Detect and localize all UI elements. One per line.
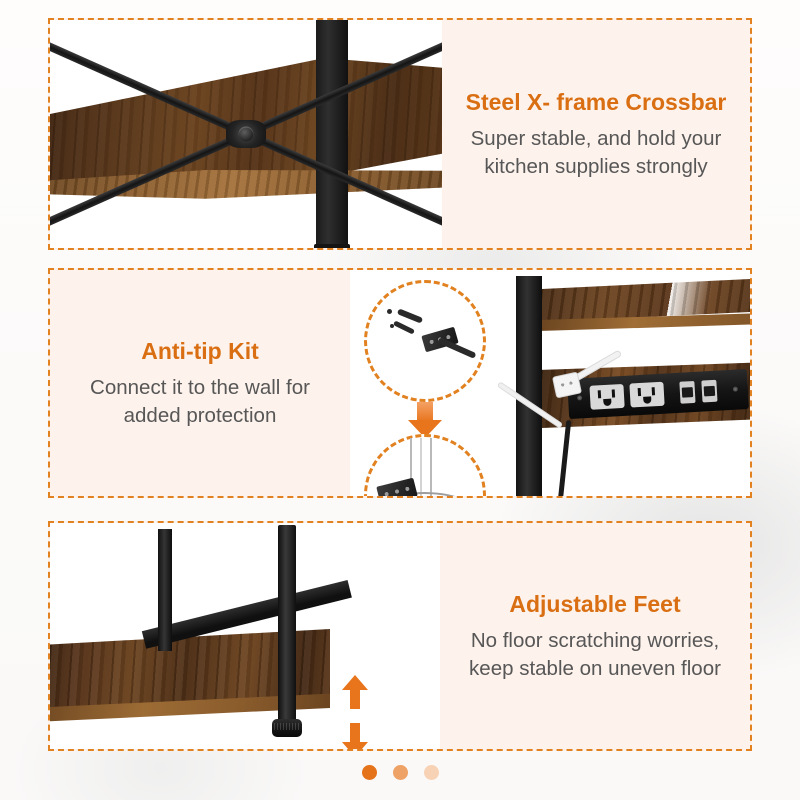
ac-outlet-icon bbox=[629, 382, 664, 408]
pagination-dots[interactable] bbox=[0, 765, 800, 780]
feature-description: Super stable, and hold your kitchen supp… bbox=[456, 125, 736, 180]
anti-tip-strap-overlay bbox=[498, 366, 610, 452]
pagination-dot-3[interactable] bbox=[424, 765, 439, 780]
feature-gallery: Steel X- frame Crossbar Super stable, an… bbox=[0, 0, 800, 800]
feature-description: Connect it to the wall for added protect… bbox=[64, 374, 336, 429]
arrow-stem bbox=[350, 689, 360, 709]
arrow-stem bbox=[350, 723, 360, 743]
outlet-ground-slot bbox=[643, 396, 651, 403]
strap-bracket bbox=[552, 372, 582, 399]
crossbar-photo bbox=[50, 20, 442, 248]
screw-dot-icon bbox=[387, 309, 392, 314]
mounting-screw-icon bbox=[733, 387, 738, 392]
crossbar-center-bolt bbox=[226, 120, 266, 148]
post-foot bbox=[314, 244, 350, 248]
shelf-power-strip-photo bbox=[498, 270, 750, 496]
anti-tip-scene bbox=[350, 270, 750, 496]
feature-title: Adjustable Feet bbox=[509, 590, 680, 618]
feature-panel-steel-x-frame-crossbar[interactable]: Steel X- frame Crossbar Super stable, an… bbox=[48, 18, 752, 250]
anti-tip-text-block: Anti-tip Kit Connect it to the wall for … bbox=[50, 270, 350, 496]
crossbar-scene bbox=[50, 20, 442, 248]
adjustable-feet-text-block: Adjustable Feet No floor scratching worr… bbox=[440, 523, 750, 749]
feature-title: Anti-tip Kit bbox=[141, 337, 259, 365]
usb-port-icon bbox=[679, 381, 695, 404]
feature-title: Steel X- frame Crossbar bbox=[466, 88, 727, 116]
strap-band bbox=[498, 381, 563, 428]
black-vertical-post bbox=[316, 20, 348, 248]
arrow-stem bbox=[417, 402, 433, 422]
arrow-up-icon bbox=[340, 675, 370, 709]
height-adjust-arrows bbox=[340, 675, 370, 749]
feature-description: No floor scratching worries, keep stable… bbox=[454, 627, 736, 682]
crossbar-text-block: Steel X- frame Crossbar Super stable, an… bbox=[442, 20, 750, 248]
arrow-down-icon bbox=[340, 723, 370, 749]
arrow-head bbox=[342, 675, 368, 690]
adjustable-feet-scene bbox=[50, 523, 440, 749]
hardware-callout-circle bbox=[364, 280, 486, 402]
pagination-dot-2[interactable] bbox=[393, 765, 408, 780]
screw-icon bbox=[393, 320, 415, 334]
pagination-dot-1[interactable] bbox=[362, 765, 377, 780]
down-arrow-icon bbox=[408, 402, 442, 438]
arrow-head bbox=[342, 742, 368, 749]
adjustable-foot bbox=[272, 719, 302, 737]
feature-panel-adjustable-feet[interactable]: Adjustable Feet No floor scratching worr… bbox=[48, 521, 752, 751]
anti-tip-photo bbox=[350, 270, 750, 496]
adjustable-feet-photo bbox=[50, 523, 440, 749]
black-leg-left bbox=[158, 529, 172, 651]
feature-panel-anti-tip-kit[interactable]: Anti-tip Kit Connect it to the wall for … bbox=[48, 268, 752, 498]
black-leg-right bbox=[278, 525, 296, 721]
usb-port-icon bbox=[701, 380, 717, 403]
screw-icon bbox=[397, 308, 423, 323]
